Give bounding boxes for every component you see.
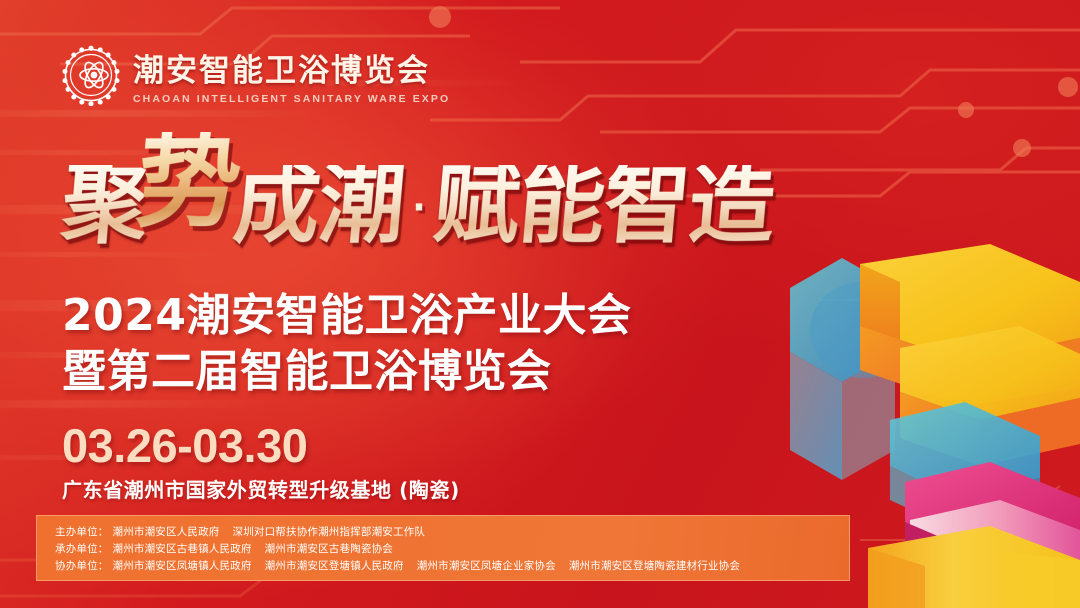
subtitle-line-2: 暨第二届智能卫浴博览会 xyxy=(62,344,631,400)
footer-org: 潮州市潮安区人民政府 xyxy=(113,526,220,538)
headline-char-2: 势 xyxy=(133,132,245,231)
headline-char-3: 成 xyxy=(230,165,322,247)
organizer-footer: 主办单位：潮州市潮安区人民政府深圳对口帮扶协作潮州指挥部潮安工作队 承办单位：潮… xyxy=(36,515,850,581)
footer-org: 潮州市潮安区古巷镇人民政府 xyxy=(113,543,252,555)
event-venue: 广东省潮州市国家外贸转型升级基地 (陶瓷) xyxy=(62,474,460,503)
poster: 潮安智能卫浴博览会 CHAOAN INTELLIGENT SANITARY WA… xyxy=(0,0,1080,608)
footer-org: 潮州市潮安区凤塘镇人民政府 xyxy=(113,560,252,572)
footer-org: 潮州市潮安区登塘镇人民政府 xyxy=(265,560,404,572)
logo: 潮安智能卫浴博览会 CHAOAN INTELLIGENT SANITARY WA… xyxy=(60,44,450,106)
subtitle-line-1: 2024潮安智能卫浴产业大会 xyxy=(62,288,631,344)
footer-label: 协办单位： xyxy=(55,560,109,572)
headline-separator: · xyxy=(408,169,430,235)
footer-org: 潮州市潮安区古巷陶瓷协会 xyxy=(265,543,393,555)
headline-char-7: 智 xyxy=(600,165,692,247)
headline-char-6: 能 xyxy=(515,165,607,247)
logo-title-cn: 潮安智能卫浴博览会 xyxy=(133,45,450,90)
footer-line: 协办单位：潮州市潮安区凤塘镇人民政府潮州市潮安区登塘镇人民政府潮州市潮安区凤塘企… xyxy=(55,558,849,575)
footer-label: 主办单位： xyxy=(55,526,109,538)
headline-char-5: 赋 xyxy=(430,165,522,247)
logo-title-en: CHAOAN INTELLIGENT SANITARY WARE EXPO xyxy=(133,93,450,105)
footer-line: 主办单位：潮州市潮安区人民政府深圳对口帮扶协作潮州指挥部潮安工作队 xyxy=(55,524,849,541)
headline-char-8: 造 xyxy=(685,165,777,247)
subtitle: 2024潮安智能卫浴产业大会 暨第二届智能卫浴博览会 xyxy=(62,288,631,400)
footer-org: 深圳对口帮扶协作潮州指挥部潮安工作队 xyxy=(233,526,426,538)
headline-char-4: 潮 xyxy=(315,165,407,247)
footer-label: 承办单位： xyxy=(55,543,109,555)
event-date: 03.26-03.30 xyxy=(62,418,307,473)
footer-line: 承办单位：潮州市潮安区古巷镇人民政府潮州市潮安区古巷陶瓷协会 xyxy=(55,541,849,558)
footer-org: 潮州市潮安区凤塘企业家协会 xyxy=(417,560,556,572)
headline: 聚 势 成 潮 · 赋 能 智 造 xyxy=(62,148,774,247)
atom-gear-emblem-icon xyxy=(60,44,122,106)
footer-org: 潮州市潮安区登塘陶瓷建材行业协会 xyxy=(569,560,740,572)
